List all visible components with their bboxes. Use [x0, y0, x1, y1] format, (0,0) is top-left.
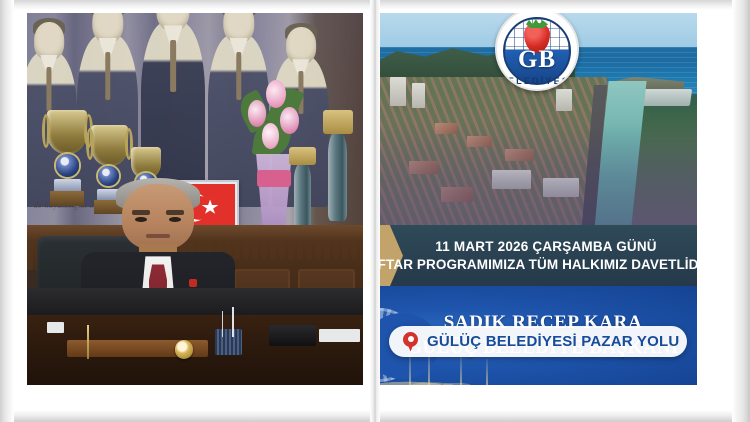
pen-holder: [215, 329, 242, 355]
medal-emblem: [56, 154, 80, 176]
page-spread: de hayatbilgisi öğrencilerin en kuvvetli…: [0, 0, 750, 422]
gb-municipality-logo: GB BELEDİYESİ: [495, 13, 579, 91]
medal-emblem: [98, 166, 120, 186]
candlestick: [323, 110, 353, 222]
logo-subtitle: BELEDİYESİ: [497, 76, 577, 86]
map-pin-icon: [403, 332, 418, 352]
page-edge-right: [732, 0, 750, 422]
desk-phone: [269, 325, 316, 345]
flag-lapel-pin: [189, 279, 197, 287]
office-portrait-photo: de hayatbilgisi öğrencilerin en kuvvetli…: [27, 13, 363, 385]
iftar-invitation-poster: GB BELEDİYESİ GÜLÜÇ BELEDİYESİ PAZAR YOL…: [377, 13, 697, 385]
face: [122, 184, 193, 250]
event-invitation-line: İFTAR PROGRAMIMIZA TÜM HALKIMIZ DAVETLİD…: [377, 257, 697, 272]
pen: [222, 311, 224, 337]
page-edge-left: [0, 0, 14, 422]
papers: [47, 322, 64, 333]
candlestick: [289, 147, 316, 229]
desk-clock: [175, 340, 193, 359]
location-badge[interactable]: GÜLÜÇ BELEDİYESİ PAZAR YOLU: [389, 326, 687, 357]
pen: [232, 307, 234, 337]
location-label: GÜLÜÇ BELEDİYESİ PAZAR YOLU: [427, 333, 679, 350]
event-date-line: 11 MART 2026 ÇARŞAMBA GÜNÜ: [435, 239, 657, 254]
papers: [319, 329, 359, 342]
event-banner: 11 MART 2026 ÇARŞAMBA GÜNÜ İFTAR PROGRAM…: [377, 225, 697, 286]
logo-initials: GB: [497, 46, 577, 74]
page-gutter: [370, 0, 380, 422]
gold-pen: [87, 325, 89, 358]
